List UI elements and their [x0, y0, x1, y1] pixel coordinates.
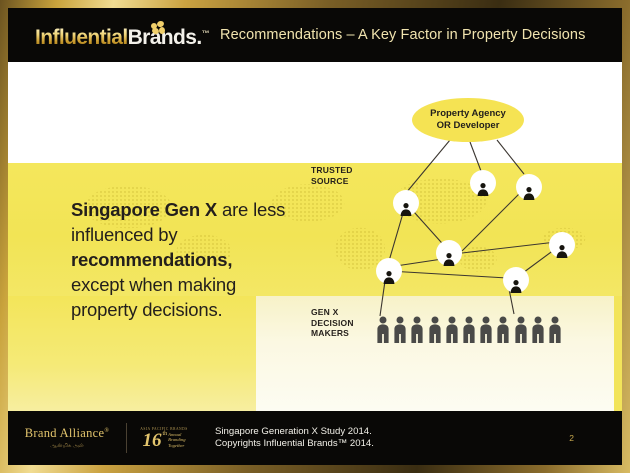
- brand-alliance-name: Brand Alliance: [25, 426, 105, 440]
- agency-label-line1: Property Agency: [430, 108, 506, 120]
- agency-label-line2: OR Developer: [437, 120, 500, 132]
- trusted-source-line2: SOURCE: [311, 176, 353, 187]
- logo-word-influential: Influential: [35, 26, 128, 49]
- person-in-circle-icon: [436, 240, 462, 266]
- flower-icon: [151, 21, 166, 34]
- slide-title: Recommendations – A Key Factor in Proper…: [220, 27, 585, 43]
- person-icon: [445, 316, 459, 343]
- person-icon: [514, 316, 528, 343]
- slide-body: Singapore Gen X are less influenced by r…: [8, 62, 622, 411]
- badge-sub-3: Together: [168, 443, 185, 448]
- brand-alliance-subtitle: ஆன்மிக அள்: [8, 443, 126, 450]
- person-in-circle-icon: [376, 258, 402, 284]
- person-in-circle-icon: [470, 170, 496, 196]
- person-in-circle-icon: [393, 190, 419, 216]
- credit-line-1: Singapore Generation X Study 2014.: [215, 426, 374, 439]
- logo-trademark: ™: [202, 29, 209, 38]
- person-icon: [496, 316, 510, 343]
- logo-wordmark: InfluentialBrands.™: [35, 26, 209, 50]
- person-icon: [479, 316, 493, 343]
- page-number: 2: [569, 433, 574, 443]
- person-icon: [531, 316, 545, 343]
- slide-footer: Brand Alliance® ஆன்மிக அள் ASIA PACIFIC …: [8, 411, 622, 465]
- person-icon: [393, 316, 407, 343]
- person-icon: [410, 316, 424, 343]
- person-icon: [428, 316, 442, 343]
- badge-number: 16: [142, 431, 161, 450]
- gen-x-decision-makers-label: GEN X DECISION MAKERS: [311, 307, 354, 339]
- anniversary-badge: ASIA PACIFIC BRANDS 16 th Annual Brandin…: [127, 427, 201, 450]
- presentation-slide: InfluentialBrands.™ Recommendations – A …: [0, 0, 630, 473]
- person-icon: [376, 316, 390, 343]
- network-diagram: [8, 62, 622, 411]
- person-in-circle-icon: [503, 267, 529, 293]
- trusted-source-line1: TRUSTED: [311, 165, 353, 176]
- footer-credits: Singapore Generation X Study 2014. Copyr…: [215, 426, 374, 451]
- badge-sub-2: Branding: [168, 437, 185, 442]
- person-icon: [548, 316, 562, 343]
- brand-alliance-logo: Brand Alliance® ஆன்மிக அள்: [8, 426, 126, 450]
- influential-brands-logo: InfluentialBrands.™: [8, 8, 220, 62]
- property-agency-bubble: Property Agency OR Developer: [412, 98, 524, 142]
- genx-line3: MAKERS: [311, 328, 354, 339]
- genx-line2: DECISION: [311, 318, 354, 329]
- badge-superscript: th: [162, 431, 167, 437]
- person-in-circle-icon: [516, 174, 542, 200]
- brand-alliance-trademark: ®: [104, 428, 109, 434]
- person-icon: [462, 316, 476, 343]
- genx-line1: GEN X: [311, 307, 354, 318]
- credit-line-2: Copyrights Influential Brands™ 2014.: [215, 438, 374, 451]
- slide-header: InfluentialBrands.™ Recommendations – A …: [8, 8, 622, 62]
- trusted-source-label: TRUSTED SOURCE: [311, 165, 353, 186]
- person-in-circle-icon: [549, 232, 575, 258]
- gen-x-crowd: [376, 316, 562, 343]
